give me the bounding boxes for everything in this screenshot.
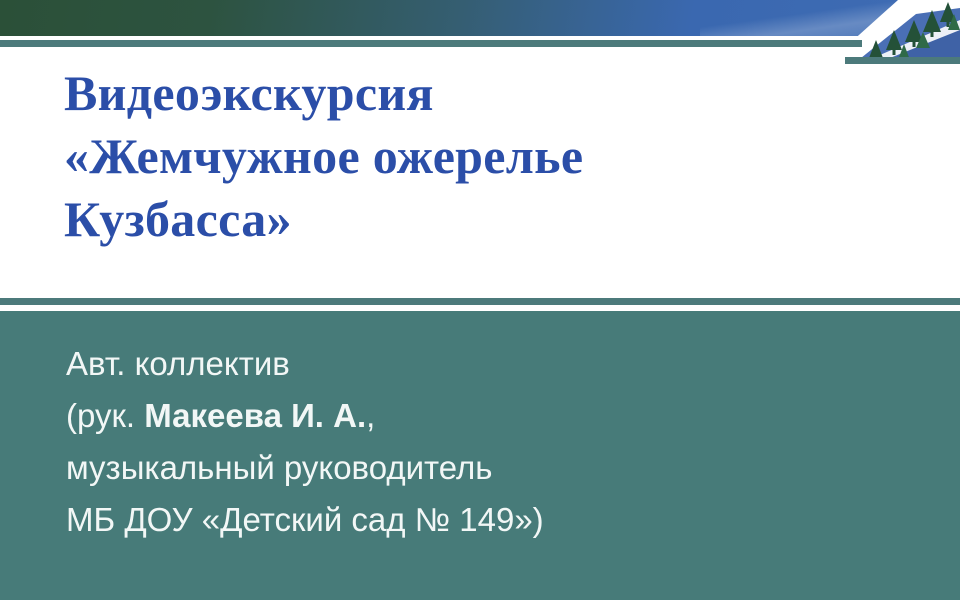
author-line-supervisor: (рук. Макеева И. А., — [66, 390, 886, 442]
slide-title-line-1: Видеоэкскурсия — [64, 62, 854, 125]
author-line-collective: Авт. коллектив — [66, 338, 886, 390]
supervisor-prefix: (рук. — [66, 397, 144, 434]
supervisor-name: Макеева И. А. — [144, 397, 366, 434]
slide-title-line-3: Кузбасса» — [64, 188, 854, 251]
slide-title: Видеоэкскурсия «Жемчужное ожерелье Кузба… — [64, 62, 854, 251]
author-credits: Авт. коллектив (рук. Макеева И. А., музы… — [66, 338, 886, 546]
author-line-institution: МБ ДОУ «Детский сад № 149») — [66, 494, 886, 546]
top-gradient-band — [0, 0, 960, 36]
header-divider-rule — [0, 40, 862, 47]
header-divider-rule-short — [845, 57, 960, 64]
panel-top-rule — [0, 298, 960, 305]
author-line-role: музыкальный руководитель — [66, 442, 886, 494]
supervisor-suffix: , — [366, 397, 375, 434]
presentation-slide: Видеоэкскурсия «Жемчужное ожерелье Кузба… — [0, 0, 960, 600]
slide-title-line-2: «Жемчужное ожерелье — [64, 125, 854, 188]
